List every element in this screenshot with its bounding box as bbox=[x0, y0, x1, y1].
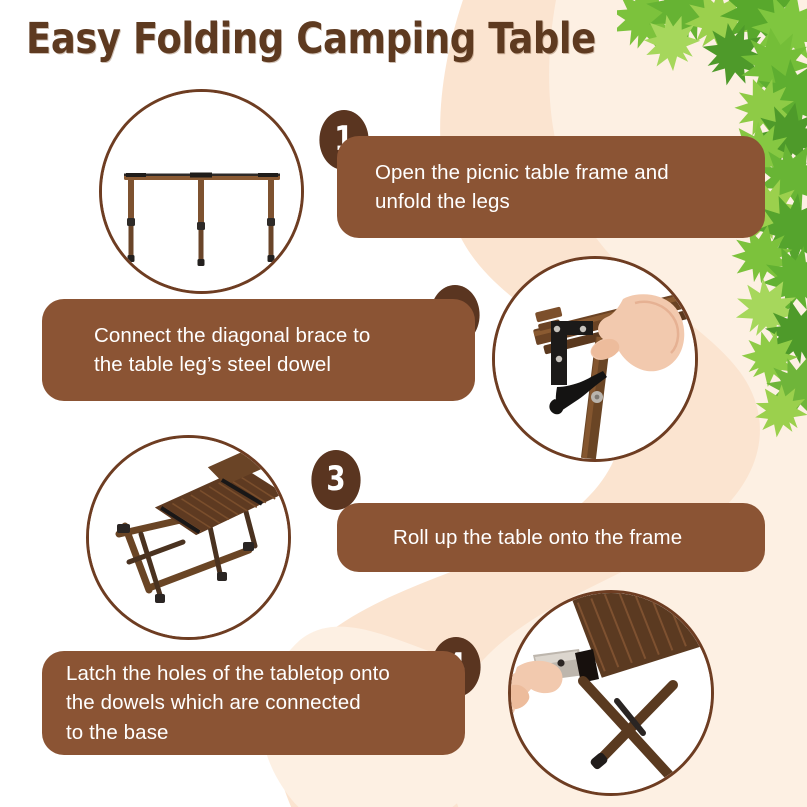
page-title: Easy Folding Camping Table bbox=[26, 14, 596, 64]
step-1-text: Open the picnic table frame and unfold t… bbox=[375, 158, 669, 216]
hand-connecting-diagonal-brace-image bbox=[495, 259, 695, 459]
rolled-tabletop-on-frame-image bbox=[89, 438, 288, 637]
infographic-page: Easy Folding Camping Table bbox=[0, 0, 807, 807]
step-3-number: 3 bbox=[326, 459, 345, 499]
step-2-photo-circle bbox=[492, 256, 698, 462]
step-3-photo-circle bbox=[86, 435, 291, 640]
step-4-text: Latch the holes of the tabletop onto the… bbox=[66, 659, 390, 746]
table-frame-unfolded-legs-image bbox=[102, 92, 301, 291]
step-1-text-box: Open the picnic table frame and unfold t… bbox=[337, 136, 765, 238]
step-2-text-box: Connect the diagonal brace to the table … bbox=[42, 299, 475, 401]
step-3-number-badge: 3 bbox=[311, 450, 360, 510]
step-3-text-box: Roll up the table onto the frame bbox=[337, 503, 765, 572]
step-4-photo-circle bbox=[508, 590, 714, 796]
step-4-text-box: Latch the holes of the tabletop onto the… bbox=[42, 651, 465, 755]
step-1-photo-circle bbox=[99, 89, 304, 294]
hand-latching-tabletop-holes-image bbox=[511, 593, 711, 793]
step-2-text: Connect the diagonal brace to the table … bbox=[94, 321, 370, 379]
step-3-text: Roll up the table onto the frame bbox=[393, 523, 682, 552]
